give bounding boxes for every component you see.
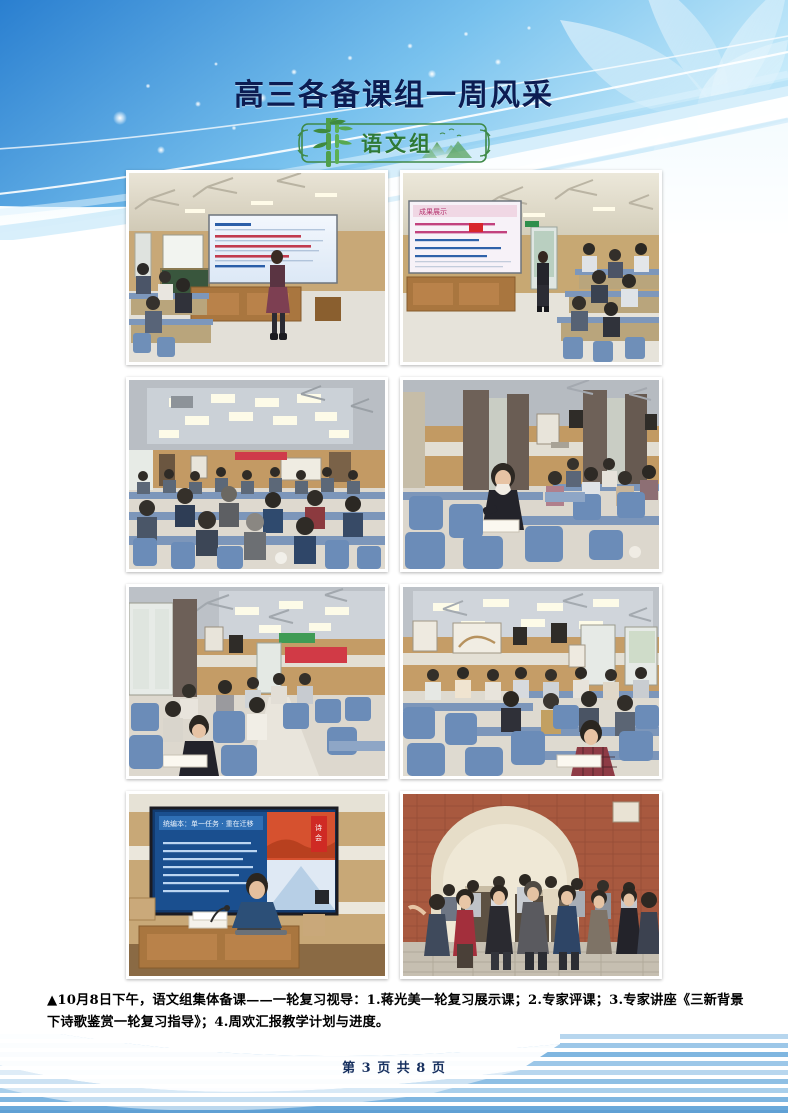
- photo-1: [126, 170, 388, 365]
- badge-label: 语文组: [294, 118, 494, 168]
- photo-grid: 成果展示: [126, 170, 662, 979]
- page-title: 高三各备课组一周风采: [0, 70, 788, 114]
- photo-6: [400, 584, 662, 779]
- svg-text:成果展示: 成果展示: [419, 207, 447, 216]
- photo-5: [126, 584, 388, 779]
- photo-caption: ▲10月8日下午，语文组集体备课——一轮复习视导：1.蒋光美一轮复习展示课；2.…: [47, 990, 747, 1034]
- photo-row: 统编本：单一任务 · 重在迁移 诗 会: [126, 791, 662, 979]
- photo-row: 成果展示: [126, 170, 662, 365]
- svg-text:会: 会: [315, 833, 322, 842]
- svg-text:诗: 诗: [315, 823, 322, 832]
- page-number: 第 3 页 共 8 页: [0, 1057, 788, 1076]
- photo-8: [400, 791, 662, 979]
- photo-2: 成果展示: [400, 170, 662, 365]
- svg-text:统编本：单一任务 · 重在迁移: 统编本：单一任务 · 重在迁移: [163, 819, 254, 828]
- photo-row: [126, 584, 662, 779]
- photo-7: 统编本：单一任务 · 重在迁移 诗 会: [126, 791, 388, 979]
- page-root: 高三各备课组一周风采: [0, 0, 788, 1113]
- group-badge: 语文组: [294, 118, 494, 168]
- photo-3: [126, 377, 388, 572]
- photo-row: [126, 377, 662, 572]
- photo-4: [400, 377, 662, 572]
